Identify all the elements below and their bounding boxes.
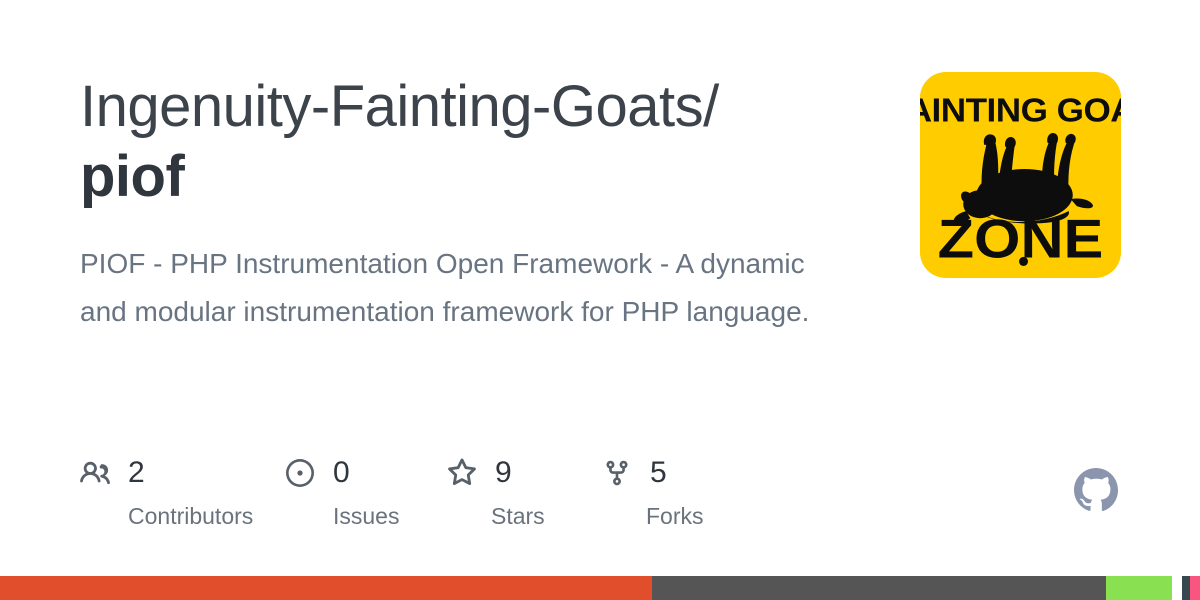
page-title: Ingenuity-Fainting-Goats/ piof: [80, 72, 870, 212]
repository-social-card: Ingenuity-Fainting-Goats/ piof PIOF - PH…: [0, 0, 1200, 600]
language-segment: [0, 576, 652, 600]
language-segment: [1106, 576, 1172, 600]
stat-issues-top: 0: [285, 455, 447, 491]
stat-stars-top: 9: [447, 455, 602, 491]
language-bar: [0, 576, 1200, 600]
avatar: FAINTING GOAT: [920, 72, 1121, 278]
language-segment: [1182, 576, 1190, 600]
star-icon: [447, 458, 477, 488]
stat-stars-value: 9: [495, 458, 512, 488]
stat-issues-label: Issues: [285, 503, 447, 529]
github-mark-icon: [1074, 468, 1118, 512]
people-icon: [80, 458, 110, 488]
stat-issues-value: 0: [333, 458, 350, 488]
stat-stars-label: Stars: [447, 503, 602, 529]
language-segment: [652, 576, 1106, 600]
repository-stats: 2 Contributors 0 Issues: [80, 455, 752, 529]
svg-text:FAINTING GOAT: FAINTING GOAT: [920, 93, 1121, 130]
repo-forked-icon: [602, 458, 632, 488]
stat-forks: 5 Forks: [602, 455, 752, 529]
stat-stars: 9 Stars: [447, 455, 602, 529]
issue-opened-icon: [285, 458, 315, 488]
card-content: Ingenuity-Fainting-Goats/ piof PIOF - PH…: [80, 72, 870, 336]
language-segment: [1190, 576, 1200, 600]
stat-contributors: 2 Contributors: [80, 455, 285, 529]
stat-forks-value: 5: [650, 458, 667, 488]
stat-forks-top: 5: [602, 455, 752, 491]
repository-owner: Ingenuity-Fainting-Goats/: [80, 74, 719, 139]
stat-contributors-label: Contributors: [80, 503, 285, 529]
stat-issues: 0 Issues: [285, 455, 447, 529]
stat-forks-label: Forks: [602, 503, 752, 529]
stat-contributors-value: 2: [128, 458, 145, 488]
language-segment-gap: [1172, 576, 1182, 600]
stat-contributors-top: 2: [80, 455, 285, 491]
repository-description: PIOF - PHP Instrumentation Open Framewor…: [80, 240, 840, 336]
repository-name: piof: [80, 142, 870, 212]
